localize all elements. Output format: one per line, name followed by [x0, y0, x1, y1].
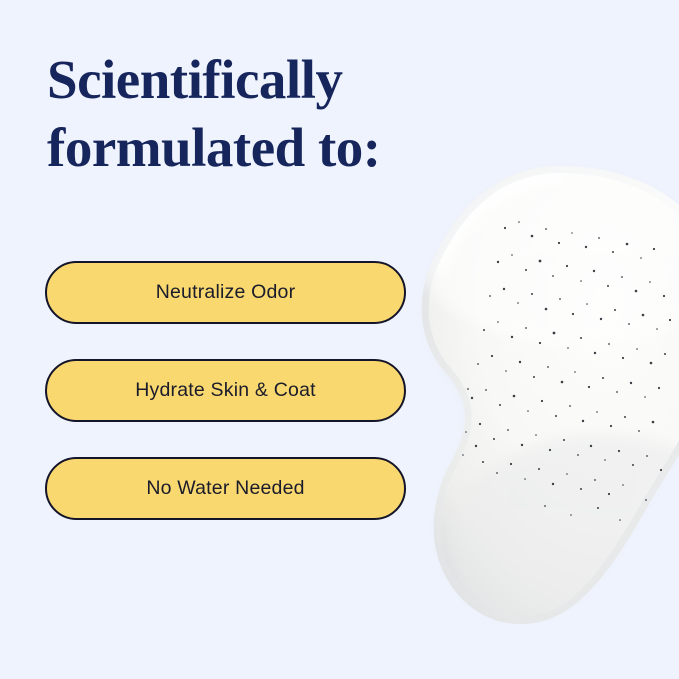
benefit-label: No Water Needed — [146, 479, 304, 499]
promo-graphic: Scientifically formulated to: Neutralize… — [0, 0, 679, 679]
benefit-list: Neutralize Odor Hydrate Skin & Coat No W… — [45, 261, 406, 520]
page-title: Scientifically formulated to: — [47, 46, 467, 181]
benefit-label: Neutralize Odor — [156, 283, 296, 303]
benefit-pill-neutralize-odor[interactable]: Neutralize Odor — [45, 261, 406, 324]
blob-shadow — [428, 172, 679, 618]
blob-body — [422, 166, 679, 624]
blob-speckles — [454, 221, 672, 521]
benefit-label: Hydrate Skin & Coat — [135, 381, 315, 401]
benefit-pill-no-water-needed[interactable]: No Water Needed — [45, 457, 406, 520]
blob-shading — [415, 155, 679, 655]
benefit-pill-hydrate-skin-and-coat[interactable]: Hydrate Skin & Coat — [45, 359, 406, 422]
